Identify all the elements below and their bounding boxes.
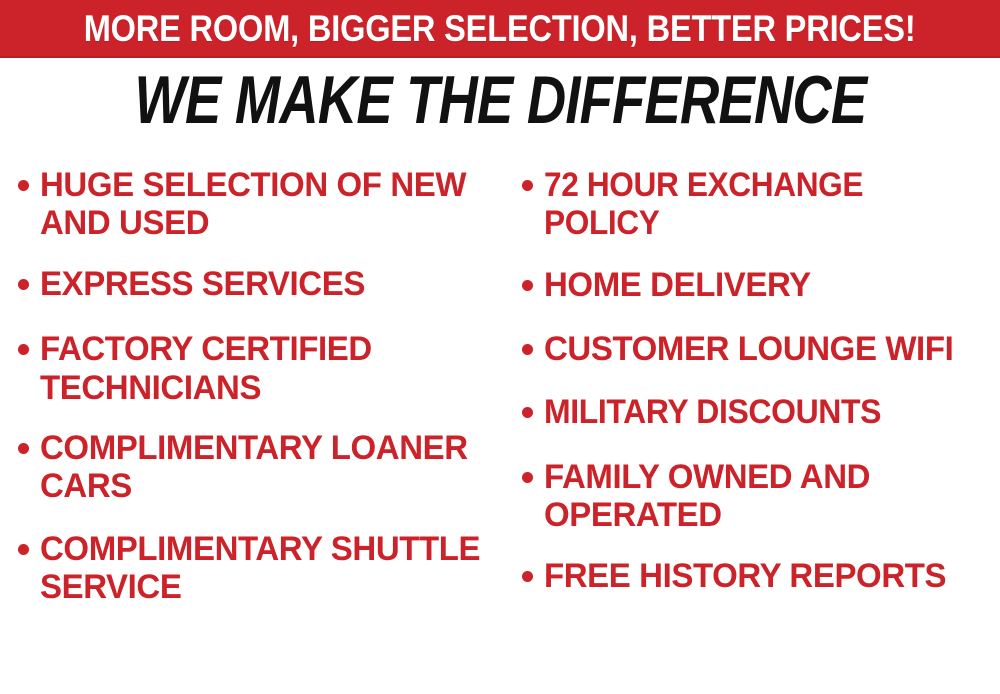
benefits-column-right: 72 HOUR EXCHANGE POLICY HOME DELIVERY CU…: [522, 166, 1000, 595]
bullet-dot-icon: [522, 280, 533, 291]
list-item: EXPRESS SERVICES: [18, 265, 498, 303]
list-item-label: COMPLIMENTARY LOANER CARS: [40, 429, 484, 506]
bullet-dot-icon: [18, 344, 29, 355]
list-item: FREE HISTORY REPORTS: [522, 557, 1000, 595]
list-item: COMPLIMENTARY SHUTTLE SERVICE: [18, 530, 498, 607]
list-item-label: CUSTOMER LOUNGE WIFI: [544, 330, 986, 368]
bullet-dot-icon: [522, 571, 533, 582]
bullet-dot-icon: [522, 180, 533, 191]
list-item: CUSTOMER LOUNGE WIFI: [522, 330, 1000, 368]
promo-banner-text: MORE ROOM, BIGGER SELECTION, BETTER PRIC…: [84, 10, 916, 47]
list-item-label: FACTORY CERTIFIED TECHNICIANS: [40, 330, 484, 407]
headline: WE MAKE THE DIFFERENCE: [0, 66, 1000, 134]
list-item: MILITARY DISCOUNTS: [522, 393, 1000, 431]
bullet-dot-icon: [18, 180, 29, 191]
list-item-label: 72 HOUR EXCHANGE POLICY: [544, 166, 968, 243]
list-item-label: FREE HISTORY REPORTS: [544, 557, 986, 595]
bullet-dot-icon: [522, 472, 533, 483]
bullet-dot-icon: [18, 544, 29, 555]
dealership-benefits-poster: MORE ROOM, BIGGER SELECTION, BETTER PRIC…: [0, 0, 1000, 694]
list-item-label: FAMILY OWNED AND OPERATED: [544, 458, 986, 535]
list-item: 72 HOUR EXCHANGE POLICY: [522, 166, 1000, 243]
list-item-label: HUGE SELECTION OF NEW AND USED: [40, 166, 484, 243]
bullet-dot-icon: [18, 443, 29, 454]
list-item-label: EXPRESS SERVICES: [40, 265, 484, 303]
list-item: FAMILY OWNED AND OPERATED: [522, 458, 1000, 535]
list-item: HOME DELIVERY: [522, 266, 1000, 304]
bullet-dot-icon: [522, 344, 533, 355]
list-item: FACTORY CERTIFIED TECHNICIANS: [18, 330, 498, 407]
benefits-column-left: HUGE SELECTION OF NEW AND USED EXPRESS S…: [18, 166, 498, 607]
bullet-dot-icon: [18, 279, 29, 290]
list-item: COMPLIMENTARY LOANER CARS: [18, 429, 498, 506]
list-item: HUGE SELECTION OF NEW AND USED: [18, 166, 498, 243]
list-item-label: HOME DELIVERY: [544, 266, 986, 304]
promo-banner: MORE ROOM, BIGGER SELECTION, BETTER PRIC…: [0, 0, 1000, 58]
list-item-label: COMPLIMENTARY SHUTTLE SERVICE: [40, 530, 484, 607]
list-item-label: MILITARY DISCOUNTS: [544, 393, 973, 431]
bullet-dot-icon: [522, 407, 533, 418]
headline-text: WE MAKE THE DIFFERENCE: [134, 66, 866, 134]
